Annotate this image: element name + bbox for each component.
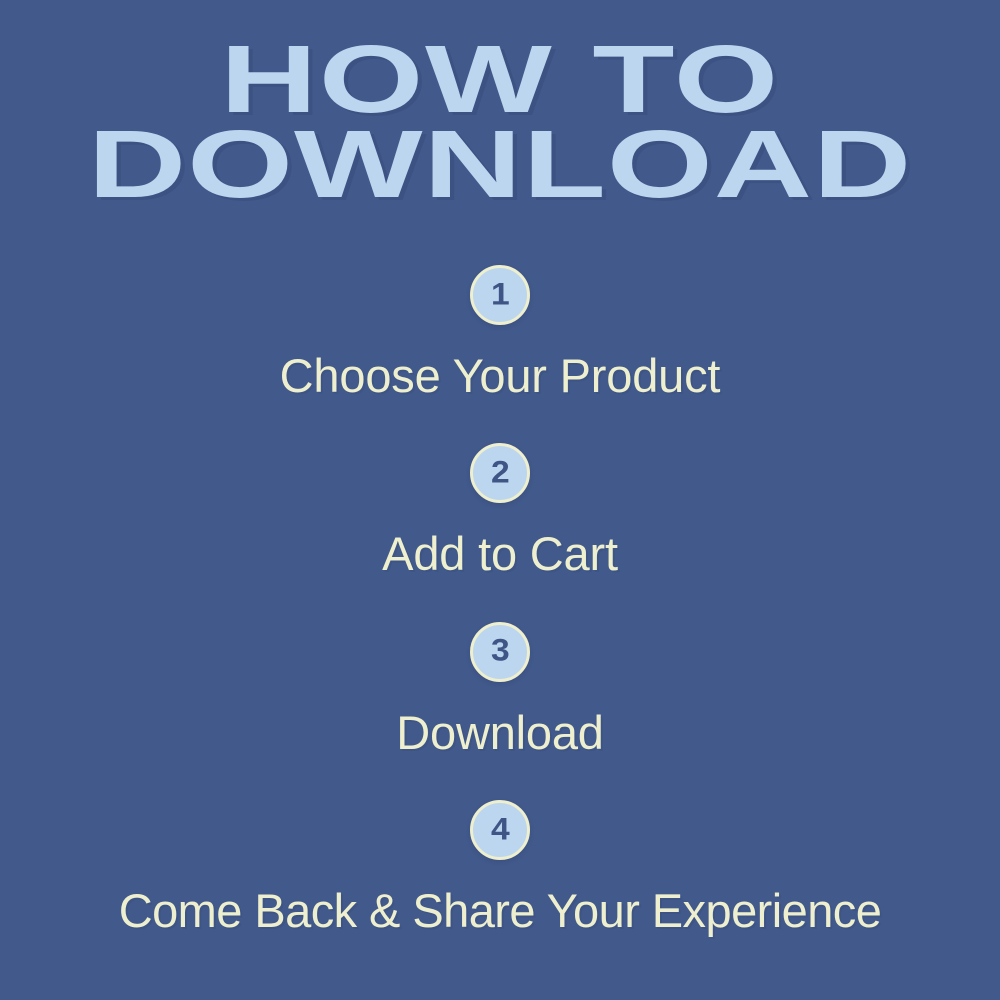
step-label-1: Choose Your Product	[280, 351, 721, 400]
step-label-2: Add to Cart	[382, 529, 618, 578]
title-line-two: DOWNLOAD	[0, 127, 1000, 204]
step-label-3: Download	[396, 708, 604, 757]
step-number-1: 1	[491, 279, 510, 311]
step-badge-2: 2	[470, 443, 530, 503]
step-badge-3: 3	[470, 622, 530, 682]
how-to-download-poster: HOW TO DOWNLOAD 1 Choose Your Product 2 …	[0, 0, 1000, 1000]
step-number-3: 3	[491, 635, 510, 667]
step-number-2: 2	[491, 457, 510, 489]
step-badge-4: 4	[470, 800, 530, 860]
step-number-4: 4	[491, 814, 510, 846]
step-label-4: Come Back & Share Your Experience	[119, 886, 882, 935]
step-badge-1: 1	[470, 265, 530, 325]
steps-list: 1 Choose Your Product 2 Add to Cart 3 Do…	[0, 265, 1000, 935]
step-item-2: 2 Add to Cart	[0, 443, 1000, 578]
step-item-1: 1 Choose Your Product	[0, 265, 1000, 400]
title-line-one: HOW TO	[0, 42, 1000, 119]
step-item-3: 3 Download	[0, 622, 1000, 757]
step-item-4: 4 Come Back & Share Your Experience	[0, 800, 1000, 935]
page-title: HOW TO DOWNLOAD	[0, 42, 1000, 204]
